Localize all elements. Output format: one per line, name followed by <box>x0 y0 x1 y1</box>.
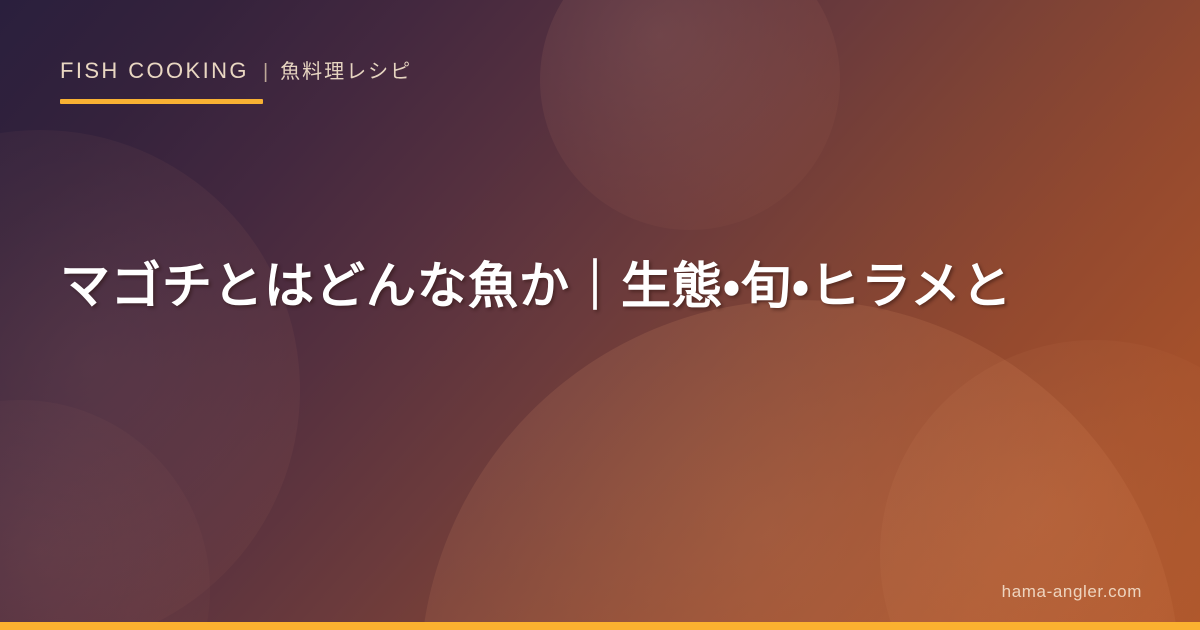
kicker-accent-rule <box>60 99 263 104</box>
bottom-accent-bar <box>0 622 1200 630</box>
kicker: FISH COOKING | 魚料理レシピ <box>60 55 412 84</box>
site-domain: hama-angler.com <box>1002 582 1142 602</box>
decorative-blob-left-lower <box>0 400 210 630</box>
ogp-card: FISH COOKING | 魚料理レシピ マゴチとはどんな魚か｜生態・旬・ヒラ… <box>0 0 1200 630</box>
category-label: 魚料理レシピ <box>280 55 412 84</box>
kicker-separator: | <box>263 61 268 84</box>
decorative-blob-top-circle <box>540 0 840 230</box>
decorative-blob-bottom-large <box>420 300 1180 630</box>
decorative-blob-left-upper <box>0 130 300 630</box>
page-title: マゴチとはどんな魚か｜生態・旬・ヒラメと <box>60 252 1140 321</box>
site-label: FISH COOKING <box>60 58 249 84</box>
